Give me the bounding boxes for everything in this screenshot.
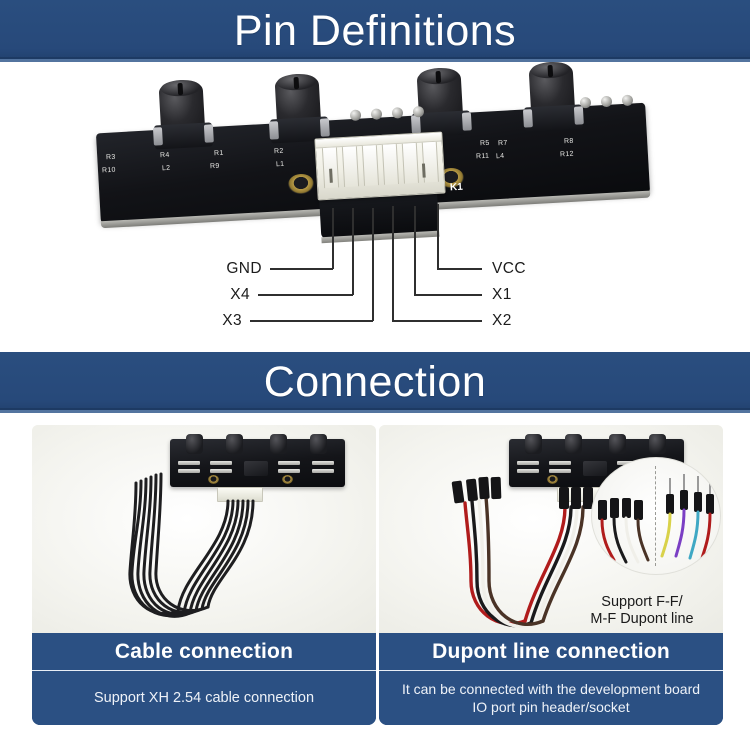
xh-connector [314, 131, 445, 200]
connection-panels: Cable connection Support XH 2.54 cable c… [0, 413, 750, 750]
leader-x3-vertical [372, 208, 374, 321]
photo-dupont-connection: Support F-F/ M-F Dupont line [379, 425, 723, 633]
panel-dupont-connection: Support F-F/ M-F Dupont line Dupont line… [379, 425, 723, 725]
pin-definitions-figure: R3 R4 R10 L2 R1 R2 R9 L1 R6 R5 R7 R8 L3 … [0, 62, 750, 352]
pin-label-x3: X3 [180, 312, 242, 330]
leader-x2-horizontal [392, 320, 482, 322]
leader-x4-horizontal [258, 294, 353, 296]
dupont-support-note: Support F-F/ M-F Dupont line [567, 594, 717, 629]
pin-label-vcc: VCC [492, 260, 526, 278]
leader-x2-vertical [392, 206, 394, 321]
leader-vcc-horizontal [437, 268, 482, 270]
caption-dupont-connection: Dupont line connection It can be connect… [379, 633, 723, 725]
ribbon-cable-illustration [32, 425, 376, 633]
pin-label-x4: X4 [180, 286, 250, 304]
leader-x3-horizontal [250, 320, 373, 322]
leader-gnd-vertical [332, 208, 334, 269]
leader-x4-vertical [352, 208, 354, 295]
leader-x1-vertical [414, 206, 416, 295]
page-title: Pin Definitions [234, 10, 516, 53]
product-info-page: Pin Definitions [0, 0, 750, 750]
dupont-note-line-2: M-F Dupont line [567, 611, 717, 629]
dupont-type-inset [591, 457, 721, 575]
caption-cable-connection: Cable connection Support XH 2.54 cable c… [32, 633, 376, 725]
dupont-note-line-1: Support F-F/ [567, 594, 717, 612]
panel-cable-connection: Cable connection Support XH 2.54 cable c… [32, 425, 376, 725]
pin-label-x2: X2 [492, 312, 512, 330]
pin-callouts: GND X4 X3 X2 X1 VCC [0, 62, 750, 352]
section-title-connection: Connection [264, 361, 487, 404]
section-header-pin-definitions: Pin Definitions [0, 0, 750, 62]
leader-gnd-horizontal [270, 268, 333, 270]
photo-cable-connection [32, 425, 376, 633]
caption-body-dupont: It can be connected with the development… [379, 671, 723, 725]
leader-vcc-vertical [437, 204, 439, 268]
caption-body-cable: Support XH 2.54 cable connection [32, 671, 376, 725]
pin-label-gnd: GND [180, 260, 262, 278]
caption-title-dupont: Dupont line connection [379, 633, 723, 671]
section-header-connection: Connection [0, 352, 750, 413]
pin-label-x1: X1 [492, 286, 512, 304]
leader-x1-horizontal [414, 294, 482, 296]
caption-title-cable: Cable connection [32, 633, 376, 671]
